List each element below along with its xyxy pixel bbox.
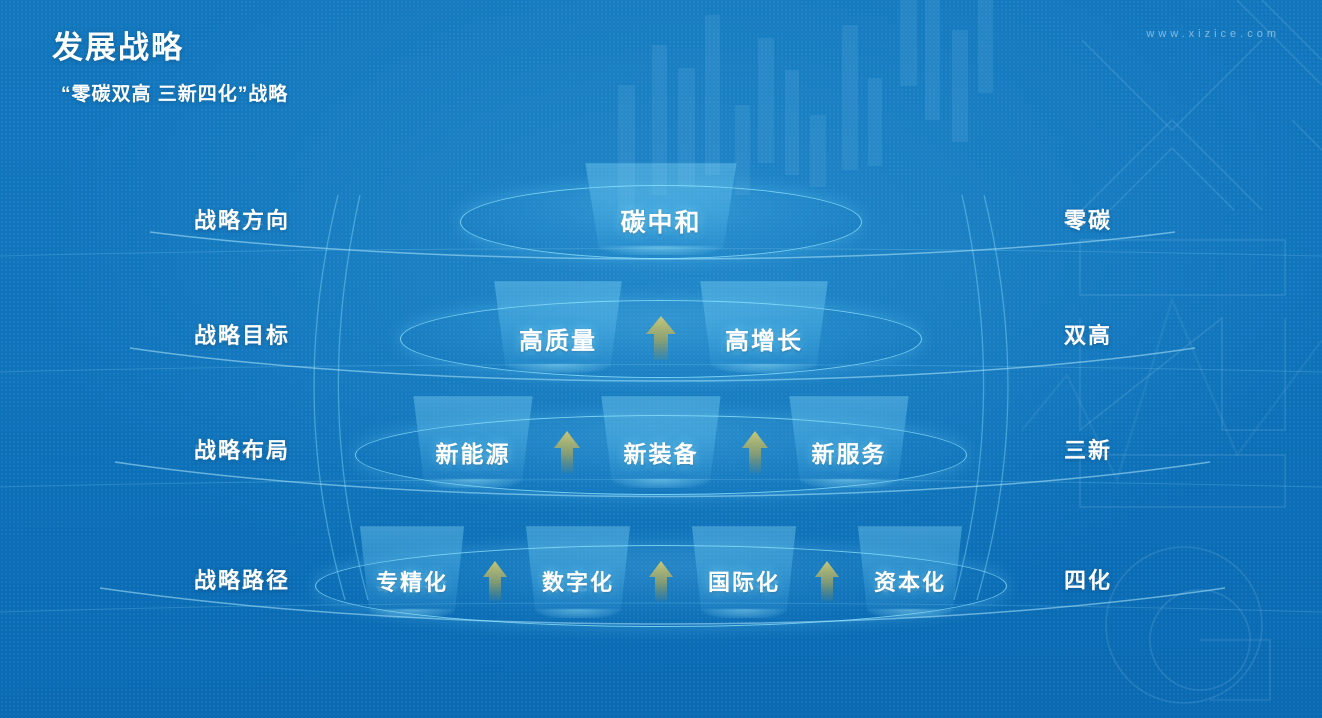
row-right-label-zero-carbon: 零碳 零碳 (1064, 203, 1112, 235)
node-label: 专精化 (376, 565, 448, 597)
node-label: 碳中和 (620, 203, 701, 239)
row-items: 专精化 专精化 数字化 数字化 (350, 557, 972, 605)
node-digitalization[interactable]: 数字化 数字化 (516, 560, 640, 602)
strategy-row-layout: 战略布局 战略布局 新能源 新能源 (0, 385, 1322, 505)
row-left-label-path: 战略路径 战略路径 (194, 563, 290, 595)
site-watermark: www.xizice.com (1146, 28, 1280, 40)
row-right-label-double-high: 双高 双高 (1064, 318, 1112, 350)
row-items: 高质量 高质量 高增长 高增长 (482, 312, 840, 364)
row-right-label-reflection: 三新 (1064, 441, 1112, 461)
row-left-label-layout: 战略布局 战略布局 (194, 433, 290, 465)
row-left-label-direction: 战略方向 战略方向 (194, 203, 290, 235)
row-left-label-reflection: 战略布局 (194, 441, 290, 461)
node-specialization[interactable]: 专精化 专精化 (350, 560, 474, 602)
strategy-row-path: 战略路径 战略路径 专精化 专精化 (0, 515, 1322, 635)
row-items: 碳中和 碳中和 (571, 197, 751, 245)
up-arrow-icon (634, 312, 688, 364)
slide-header: 发展战略 “零碳双高 三新四化”战略 (52, 22, 288, 106)
node-label: 国际化 (708, 565, 780, 597)
node-new-equipment[interactable]: 新装备 新装备 (590, 430, 732, 474)
node-label: 新服务 (812, 435, 887, 469)
node-internationalization[interactable]: 国际化 国际化 (682, 560, 806, 602)
row-right-label-reflection: 四化 (1064, 571, 1112, 591)
slide-canvas: 发展战略 “零碳双高 三新四化”战略 www.xizice.com 战略方向 战… (0, 0, 1322, 718)
node-capitalization[interactable]: 资本化 资本化 (848, 560, 972, 602)
node-label: 新能源 (436, 435, 511, 469)
row-right-label-reflection: 双高 (1064, 326, 1112, 346)
row-right-label-four-izations: 四化 四化 (1064, 563, 1112, 595)
page-title: 发展战略 (52, 22, 288, 67)
node-high-growth[interactable]: 高增长 高增长 (688, 315, 840, 361)
row-left-label-goal: 战略目标 战略目标 (194, 318, 290, 350)
node-label: 高质量 (519, 321, 597, 356)
row-right-label-three-new: 三新 三新 (1064, 433, 1112, 465)
strategy-row-direction: 战略方向 战略方向 碳中和 碳中和 零碳 零碳 (0, 155, 1322, 275)
up-arrow-icon (640, 557, 682, 605)
node-new-service[interactable]: 新服务 新服务 (778, 430, 920, 474)
node-label: 新装备 (624, 435, 699, 469)
up-arrow-icon (544, 427, 590, 477)
row-items: 新能源 新能源 新装备 新装备 (402, 427, 920, 477)
page-subtitle: “零碳双高 三新四化”战略 (61, 79, 288, 106)
node-high-quality[interactable]: 高质量 高质量 (482, 315, 634, 361)
node-new-energy[interactable]: 新能源 新能源 (402, 430, 544, 474)
row-left-label-reflection: 战略目标 (194, 326, 290, 346)
node-label: 高增长 (725, 321, 803, 356)
row-left-label-reflection: 战略方向 (194, 211, 290, 231)
row-right-label-reflection: 零碳 (1064, 211, 1112, 231)
up-arrow-icon (806, 557, 848, 605)
up-arrow-icon (474, 557, 516, 605)
up-arrow-icon (732, 427, 778, 477)
node-label: 资本化 (874, 565, 946, 597)
node-label: 数字化 (542, 565, 614, 597)
row-left-label-reflection: 战略路径 (194, 571, 290, 591)
strategy-row-goal: 战略目标 战略目标 高质量 高质量 (0, 270, 1322, 390)
node-carbon-neutral[interactable]: 碳中和 碳中和 (571, 197, 751, 245)
